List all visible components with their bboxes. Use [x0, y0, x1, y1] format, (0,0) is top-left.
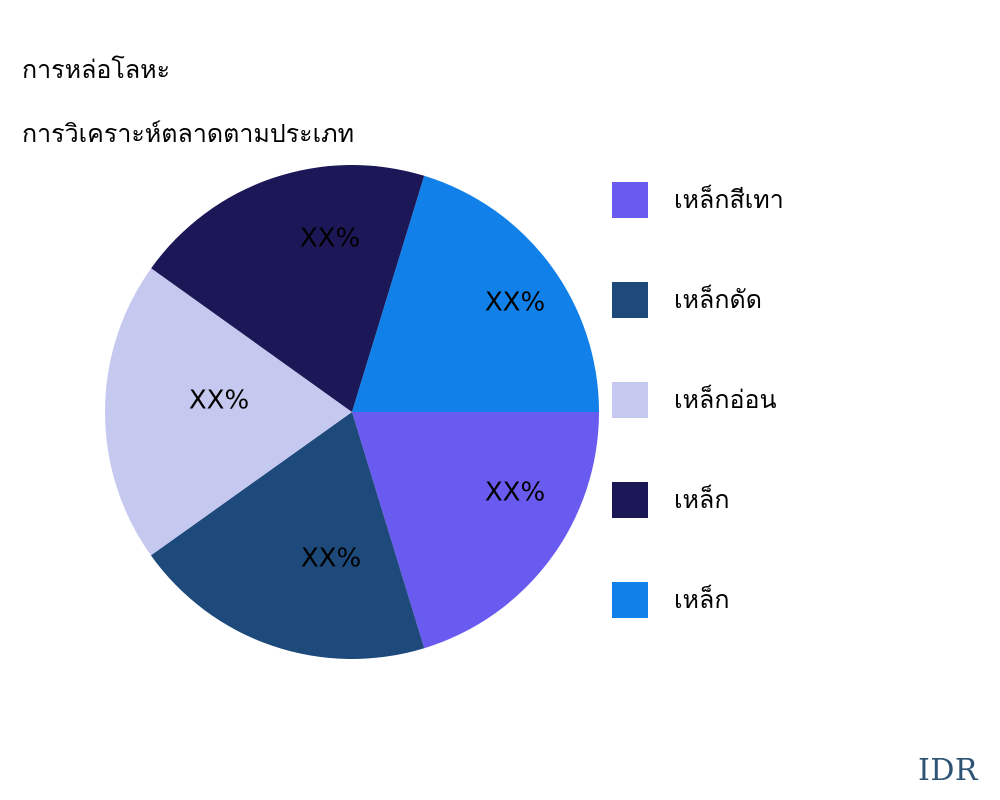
pie-slice-data-label: XX%: [189, 386, 249, 416]
page-title-line-1: การหล่อโลหะ: [22, 54, 582, 86]
legend-item-label: เหล็กอ่อน: [674, 385, 777, 415]
legend-color-swatch: [612, 282, 648, 318]
legend-item[interactable]: เหล็กอ่อน: [612, 350, 982, 450]
legend-item-label: เหล็กสีเทา: [674, 185, 784, 215]
pie-chart: XX%XX%XX%XX%XX%: [0, 120, 620, 700]
legend-item[interactable]: เหล็กสีเทา: [612, 150, 982, 250]
pie-slice-data-label: XX%: [300, 224, 360, 254]
pie-chart-svg: XX%XX%XX%XX%XX%: [0, 120, 620, 700]
legend-item[interactable]: เหล็ก: [612, 550, 982, 650]
legend-color-swatch: [612, 382, 648, 418]
legend-item-label: เหล็ก: [674, 485, 729, 515]
legend-item-label: เหล็ก: [674, 585, 729, 615]
legend-color-swatch: [612, 482, 648, 518]
legend-color-swatch: [612, 582, 648, 618]
legend-item[interactable]: เหล็กดัด: [612, 250, 982, 350]
legend-item-label: เหล็กดัด: [674, 285, 762, 315]
watermark-idr: IDR: [918, 753, 978, 788]
pie-slice-data-label: XX%: [485, 478, 545, 508]
chart-legend: เหล็กสีเทาเหล็กดัดเหล็กอ่อนเหล็กเหล็ก: [612, 150, 982, 650]
pie-slice-data-label: XX%: [485, 288, 545, 318]
pie-slice-data-label: XX%: [301, 544, 361, 574]
legend-item[interactable]: เหล็ก: [612, 450, 982, 550]
legend-color-swatch: [612, 182, 648, 218]
